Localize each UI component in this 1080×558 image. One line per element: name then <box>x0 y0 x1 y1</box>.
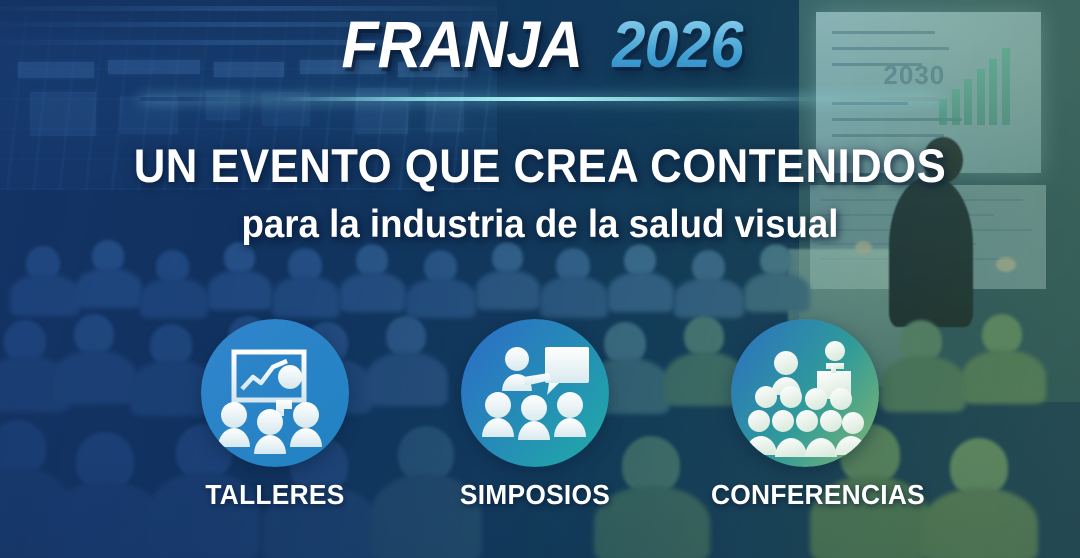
headline-primary: UN EVENTO QUE CREA CONTENIDOS <box>38 138 1042 193</box>
podium-speaker-crowd-icon <box>731 319 879 467</box>
card-simposios-label: SIMPOSIOS <box>441 479 629 511</box>
presentation-board-chart-audience-icon <box>201 319 349 467</box>
card-simposios-circle <box>461 319 609 467</box>
accent-divider-line <box>140 97 940 101</box>
logo-year-text: 2026 <box>612 6 743 82</box>
event-logo: FRANJA 2026 <box>0 6 1080 82</box>
logo-brand-text: FRANJA <box>341 6 582 82</box>
promotional-banner: 2030 <box>0 0 1080 558</box>
card-talleres-circle <box>201 319 349 467</box>
feature-cards: TALLERES <box>0 319 1080 558</box>
speaker-speech-bubble-audience-icon <box>461 319 609 467</box>
card-conferencias-circle <box>731 319 879 467</box>
card-conferencias[interactable]: CONFERENCIAS <box>705 319 905 511</box>
card-simposios[interactable]: SIMPOSIOS <box>435 319 635 511</box>
card-conferencias-label: CONFERENCIAS <box>711 479 899 511</box>
card-talleres[interactable]: TALLERES <box>175 319 375 511</box>
card-talleres-label: TALLERES <box>181 479 369 511</box>
headline-secondary: para la industria de la salud visual <box>32 203 1047 247</box>
